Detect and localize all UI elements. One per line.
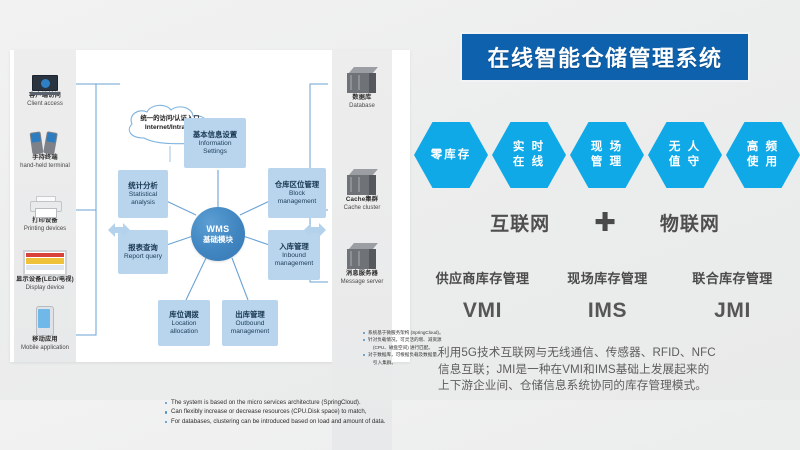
device-handheld-terminal[interactable]: 手持终端 hand-held terminal xyxy=(14,120,76,170)
column-vmi: 供应商库存管理 VMI xyxy=(420,268,545,323)
hexagon-unattended[interactable]: 无 人值 守 xyxy=(648,122,722,188)
column-ims: 现场库存管理 IMS xyxy=(545,268,670,323)
hub-subtitle: 基础模块 xyxy=(203,235,233,245)
server-icon xyxy=(332,236,392,270)
page-title: 在线智能仓储管理系统 xyxy=(487,41,722,73)
device-label-cn: 显示设备(LED/电视) xyxy=(11,276,79,284)
laptop-icon xyxy=(14,58,76,92)
module-label-cn: 库位调拨 xyxy=(169,310,199,320)
mobile-phone-icon xyxy=(14,302,76,336)
paragraph-line-1: 利用5G技术互联网与无线通信、传感器、RFID、NFC xyxy=(438,345,788,362)
module-label-en2: management xyxy=(278,198,317,206)
device-label-en: hand-held terminal xyxy=(14,162,76,170)
device-mobile-application[interactable]: 移动应用 Mobile application xyxy=(14,302,76,352)
column-abbr: JMI xyxy=(670,299,795,323)
module-information-settings[interactable]: 基本信息设置 Information Settings xyxy=(184,118,246,168)
hexagon-realtime-online[interactable]: 实 时在 线 xyxy=(492,122,566,188)
left-double-arrow-icon xyxy=(108,222,130,238)
device-label-en: Display device xyxy=(11,284,79,292)
server-icon xyxy=(332,162,392,196)
server-label-cn: 消息服务器 xyxy=(332,270,392,278)
module-label-en1: Block xyxy=(289,190,305,198)
server-label-en: Cache cluster xyxy=(332,204,392,212)
module-label-en2: allocation xyxy=(170,328,198,336)
description-paragraph: 利用5G技术互联网与无线通信、传感器、RFID、NFC 信息互联；JMI是一种在… xyxy=(438,345,788,395)
device-label-en: Client access xyxy=(14,100,76,108)
server-label-cn: 数据库 xyxy=(332,94,392,102)
note-en-2: Can flexibly increase or decrease resour… xyxy=(165,407,455,416)
paragraph-line-2: 信息互联；JMI是一种在VMI和IMS基础上发展起来的 xyxy=(438,362,788,379)
module-label-cn: 仓库区位管理 xyxy=(275,180,319,190)
hexagon-label: 高 频使 用 xyxy=(747,140,779,170)
notes-english: The system is based on the micro service… xyxy=(125,398,455,426)
module-label-cn: 报表查询 xyxy=(128,243,158,253)
module-label-cn: 基本信息设置 xyxy=(193,130,237,140)
column-label-cn: 供应商库存管理 xyxy=(420,268,545,287)
hexagon-site-management[interactable]: 现 场管 理 xyxy=(570,122,644,188)
display-icon xyxy=(11,242,79,276)
server-label-cn: Cache集群 xyxy=(332,196,392,204)
device-label-en: Mobile application xyxy=(14,344,76,352)
hexagon-label: 无 人值 守 xyxy=(669,140,701,170)
paragraph-line-3: 上下游企业间、仓储信息系统协同的库存管理模式。 xyxy=(438,378,788,395)
server-database[interactable]: 数据库 Database xyxy=(332,60,392,110)
server-label-en: Database xyxy=(332,102,392,110)
module-statistical-analysis[interactable]: 统计分析 Statistical analysis xyxy=(118,170,168,218)
wms-core-hub[interactable]: WMS 基础模块 xyxy=(191,207,245,261)
module-label-en2: Settings xyxy=(203,148,227,156)
right-panel: 在线智能仓储管理系统 零库存 实 时在 线 现 场管 理 无 人值 守 高 频使… xyxy=(410,0,800,400)
module-label-cn: 统计分析 xyxy=(128,181,158,191)
device-client-access[interactable]: 客户端访问 Client access xyxy=(14,58,76,108)
module-label-cn: 入库管理 xyxy=(279,242,309,252)
printer-icon xyxy=(14,183,76,217)
hexagon-label: 实 时在 线 xyxy=(513,140,545,170)
hexagon-label: 现 场管 理 xyxy=(591,140,623,170)
module-block-management[interactable]: 仓库区位管理 Block management xyxy=(268,168,326,218)
handheld-terminal-icon xyxy=(14,120,76,154)
module-outbound-management[interactable]: 出库管理 Outbound management xyxy=(222,300,278,346)
server-message-server[interactable]: 消息服务器 Message server xyxy=(332,236,392,286)
hexagon-label: 零库存 xyxy=(431,148,472,163)
slide-canvas: 统一的访问/认证入口 Internet/Intranet 客户端访问 Clien… xyxy=(0,0,800,400)
column-abbr: IMS xyxy=(545,299,670,323)
hexagon-zero-inventory[interactable]: 零库存 xyxy=(414,122,488,188)
module-location-allocation[interactable]: 库位调拨 Location allocation xyxy=(158,300,210,346)
architecture-diagram-card: 统一的访问/认证入口 Internet/Intranet 客户端访问 Clien… xyxy=(10,50,410,362)
plus-icon: ✚ xyxy=(594,211,616,233)
module-label-en1: Report query xyxy=(124,253,162,261)
module-label-en1: Statistical xyxy=(129,191,157,199)
column-label-cn: 联合库存管理 xyxy=(670,268,795,287)
device-printing[interactable]: 打印设备 Printing devices xyxy=(14,183,76,233)
server-cache-cluster[interactable]: Cache集群 Cache cluster xyxy=(332,162,392,212)
hub-title: WMS xyxy=(206,224,229,235)
hexagon-high-frequency-use[interactable]: 高 频使 用 xyxy=(726,122,800,188)
module-label-en1: Inbound xyxy=(282,252,306,260)
module-label-en1: Information xyxy=(199,140,232,148)
module-label-en1: Outbound xyxy=(236,320,265,328)
panel-title-bar: 在线智能仓储管理系统 xyxy=(460,32,750,82)
device-label-en: Printing devices xyxy=(14,225,76,233)
column-label-cn: 现场库存管理 xyxy=(545,268,670,287)
internet-plus-iot-row: 互联网 ✚ 物联网 xyxy=(410,205,800,239)
label-iot: 物联网 xyxy=(660,209,720,236)
label-internet: 互联网 xyxy=(490,209,550,236)
module-label-en2: management xyxy=(275,260,314,268)
column-abbr: VMI xyxy=(420,299,545,323)
feature-hexagon-row: 零库存 实 时在 线 现 场管 理 无 人值 守 高 频使 用 xyxy=(410,122,800,190)
device-label-cn: 手持终端 xyxy=(14,154,76,162)
module-label-en1: Location xyxy=(172,320,197,328)
module-label-en2: analysis xyxy=(131,199,155,207)
module-label-cn: 出库管理 xyxy=(235,310,265,320)
server-label-en: Message server xyxy=(332,278,392,286)
column-jmi: 联合库存管理 JMI xyxy=(670,268,795,323)
device-label-cn: 移动应用 xyxy=(14,336,76,344)
note-en-3: For databases, clustering can be introdu… xyxy=(165,417,455,426)
right-double-arrow-icon xyxy=(304,222,326,238)
device-display[interactable]: 显示设备(LED/电视) Display device xyxy=(11,242,79,292)
server-icon xyxy=(332,60,392,94)
module-label-en2: management xyxy=(231,328,270,336)
device-label-cn: 打印设备 xyxy=(14,217,76,225)
inventory-model-columns: 供应商库存管理 VMI 现场库存管理 IMS 联合库存管理 JMI xyxy=(420,268,795,323)
